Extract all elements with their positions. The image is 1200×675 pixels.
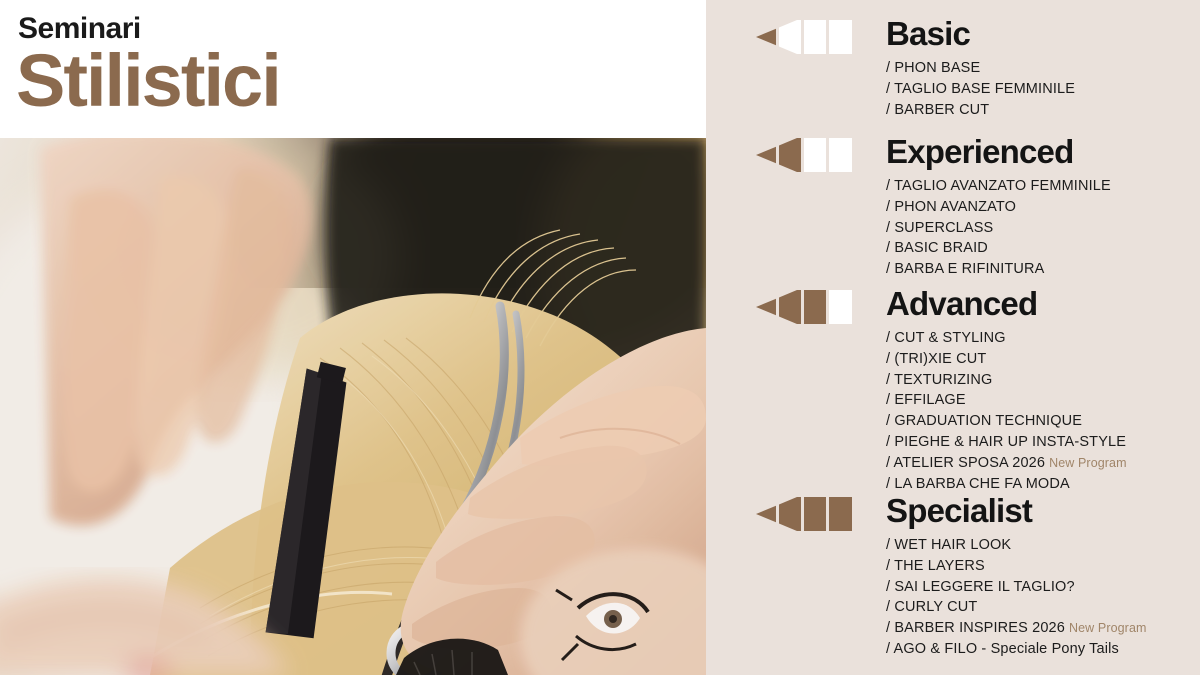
course-label: / ATELIER SPOSA 2026 <box>886 455 1045 471</box>
level-arrow-icon-advanced <box>756 290 852 324</box>
course-label: / BASIC BRAID <box>886 240 988 256</box>
course-label: / SUPERCLASS <box>886 220 993 236</box>
level-arrow-icon-basic <box>756 20 852 54</box>
list-item[interactable]: / CUT & STYLING <box>706 328 1200 349</box>
course-label: / AGO & FILO - Speciale Pony Tails <box>886 641 1119 657</box>
list-item[interactable]: / (TRI)XIE CUT <box>706 349 1200 370</box>
new-program-badge: New Program <box>1049 456 1127 470</box>
list-item[interactable]: / AGO & FILO - Speciale Pony Tails <box>706 639 1200 660</box>
course-label: / WET HAIR LOOK <box>886 537 1011 553</box>
course-label: / BARBER INSPIRES 2026 <box>886 620 1065 636</box>
left-column: Seminari Stilistici <box>0 0 706 675</box>
course-list-advanced: / CUT & STYLING / (TRI)XIE CUT / TEXTURI… <box>706 328 1200 494</box>
course-label: / LA BARBA CHE FA MODA <box>886 476 1070 492</box>
list-item[interactable]: / TAGLIO BASE FEMMINILE <box>706 79 1200 100</box>
list-item[interactable]: / BARBA E RIFINITURA <box>706 259 1200 280</box>
salon-haircut-photo <box>0 138 706 675</box>
section-title-basic: Basic <box>886 14 970 54</box>
course-label: / PIEGHE & HAIR UP INSTA-STYLE <box>886 434 1126 450</box>
list-item[interactable]: / SAI LEGGERE IL TAGLIO? <box>706 577 1200 598</box>
list-item[interactable]: / PHON BASE <box>706 58 1200 79</box>
title-block: Seminari Stilistici <box>0 0 706 138</box>
seminar-levels-slide: Seminari Stilistici <box>0 0 1200 675</box>
list-item[interactable]: / BASIC BRAID <box>706 238 1200 259</box>
section-header-experienced: Experienced <box>706 132 1200 176</box>
section-experienced: Experienced / TAGLIO AVANZATO FEMMINILE … <box>706 132 1200 280</box>
list-item[interactable]: / THE LAYERS <box>706 556 1200 577</box>
course-label: / SAI LEGGERE IL TAGLIO? <box>886 579 1075 595</box>
list-item[interactable]: / BARBER INSPIRES 2026New Program <box>706 618 1200 639</box>
level-arrow-icon-specialist <box>756 497 852 531</box>
section-specialist: Specialist / WET HAIR LOOK / THE LAYERS … <box>706 491 1200 660</box>
list-item[interactable]: / WET HAIR LOOK <box>706 535 1200 556</box>
list-item[interactable]: / TAGLIO AVANZATO FEMMINILE <box>706 176 1200 197</box>
list-item[interactable]: / GRADUATION TECHNIQUE <box>706 411 1200 432</box>
list-item[interactable]: / CURLY CUT <box>706 597 1200 618</box>
course-label: / PHON BASE <box>886 60 980 76</box>
levels-panel: Basic / PHON BASE / TAGLIO BASE FEMMINIL… <box>706 0 1200 675</box>
list-item[interactable]: / BARBER CUT <box>706 100 1200 121</box>
section-header-specialist: Specialist <box>706 491 1200 535</box>
section-header-basic: Basic <box>706 14 1200 58</box>
section-title-advanced: Advanced <box>886 284 1037 324</box>
course-label: / BARBA E RIFINITURA <box>886 261 1045 277</box>
new-program-badge: New Program <box>1069 621 1147 635</box>
course-label: / CURLY CUT <box>886 599 977 615</box>
list-item[interactable]: / EFFILAGE <box>706 390 1200 411</box>
course-label: / CUT & STYLING <box>886 330 1006 346</box>
list-item[interactable]: / PIEGHE & HAIR UP INSTA-STYLE <box>706 432 1200 453</box>
section-basic: Basic / PHON BASE / TAGLIO BASE FEMMINIL… <box>706 14 1200 120</box>
course-label: / BARBER CUT <box>886 102 989 118</box>
section-header-advanced: Advanced <box>706 284 1200 328</box>
page-title: Stilistici <box>16 44 280 118</box>
level-arrow-icon-experienced <box>756 138 852 172</box>
course-list-experienced: / TAGLIO AVANZATO FEMMINILE / PHON AVANZ… <box>706 176 1200 280</box>
course-label: / TEXTURIZING <box>886 372 992 388</box>
course-label: / EFFILAGE <box>886 392 966 408</box>
list-item[interactable]: / PHON AVANZATO <box>706 197 1200 218</box>
course-label: / PHON AVANZATO <box>886 199 1016 215</box>
course-list-basic: / PHON BASE / TAGLIO BASE FEMMINILE / BA… <box>706 58 1200 120</box>
list-item[interactable]: / ATELIER SPOSA 2026New Program <box>706 453 1200 474</box>
section-title-experienced: Experienced <box>886 132 1073 172</box>
list-item[interactable]: / TEXTURIZING <box>706 370 1200 391</box>
course-label: / GRADUATION TECHNIQUE <box>886 413 1082 429</box>
list-item[interactable]: / SUPERCLASS <box>706 218 1200 239</box>
section-advanced: Advanced / CUT & STYLING / (TRI)XIE CUT … <box>706 284 1200 494</box>
course-label: / THE LAYERS <box>886 558 985 574</box>
course-label: / (TRI)XIE CUT <box>886 351 986 367</box>
course-label: / TAGLIO BASE FEMMINILE <box>886 81 1075 97</box>
section-title-specialist: Specialist <box>886 491 1032 531</box>
course-list-specialist: / WET HAIR LOOK / THE LAYERS / SAI LEGGE… <box>706 535 1200 660</box>
course-label: / TAGLIO AVANZATO FEMMINILE <box>886 178 1111 194</box>
